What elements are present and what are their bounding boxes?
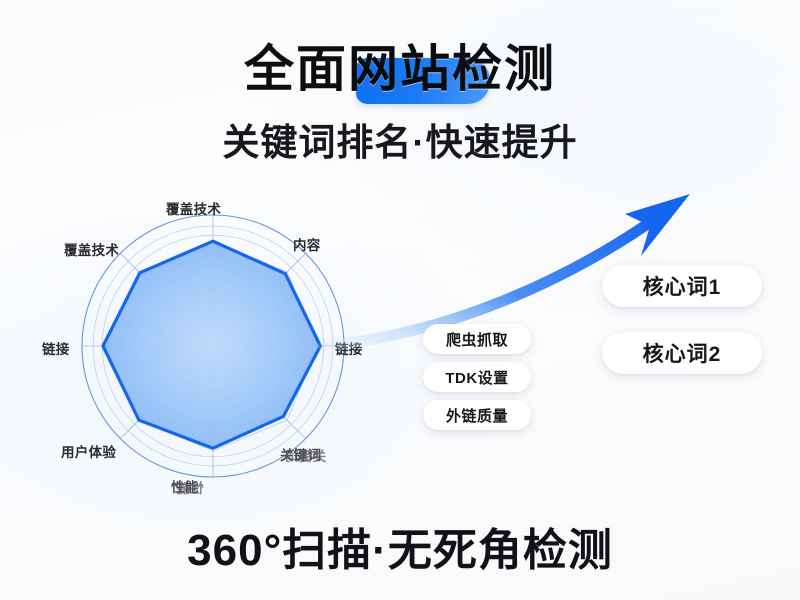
page-title-segment: 全面: [244, 41, 348, 97]
radar-label-left: 链接: [42, 338, 70, 358]
page-title-segment: 检测: [452, 41, 556, 97]
keyword-pill-2[interactable]: 核心词2: [602, 332, 762, 374]
footer-headline: 360°扫描·无死角检测: [0, 521, 800, 581]
check-pill-tdk[interactable]: TDK设置: [423, 362, 531, 392]
keyword-pill-1[interactable]: 核心词1: [602, 265, 762, 307]
title-block: 全面网站检测: [0, 34, 800, 106]
radar-label-bottom-ghost: 性能: [176, 477, 204, 497]
arrow-head-icon: [625, 194, 690, 256]
radar-label-lower-right: 关键词 关键词: [280, 444, 321, 464]
radar-label-lower-left: 用户体验: [61, 441, 116, 461]
check-pill-crawl[interactable]: 爬虫抓取: [423, 324, 531, 354]
radar-label-top: 覆盖技术: [166, 198, 221, 218]
radar-label-lower-right-ghost: 关键词: [285, 445, 326, 465]
radar-label-bottom: 性能 性能: [171, 476, 199, 496]
radar-label-upper-left: 覆盖技术: [64, 239, 119, 259]
check-pill-link[interactable]: 外链质量: [423, 400, 531, 430]
poster-stage: 全面网站检测 关键词排名·快速提升 覆盖技术 内容 链接 关键词: [0, 0, 800, 600]
page-title-highlight-word: 网站: [348, 41, 452, 97]
page-title: 全面网站检测: [0, 34, 800, 104]
page-subtitle: 关键词排名·快速提升: [0, 117, 800, 169]
